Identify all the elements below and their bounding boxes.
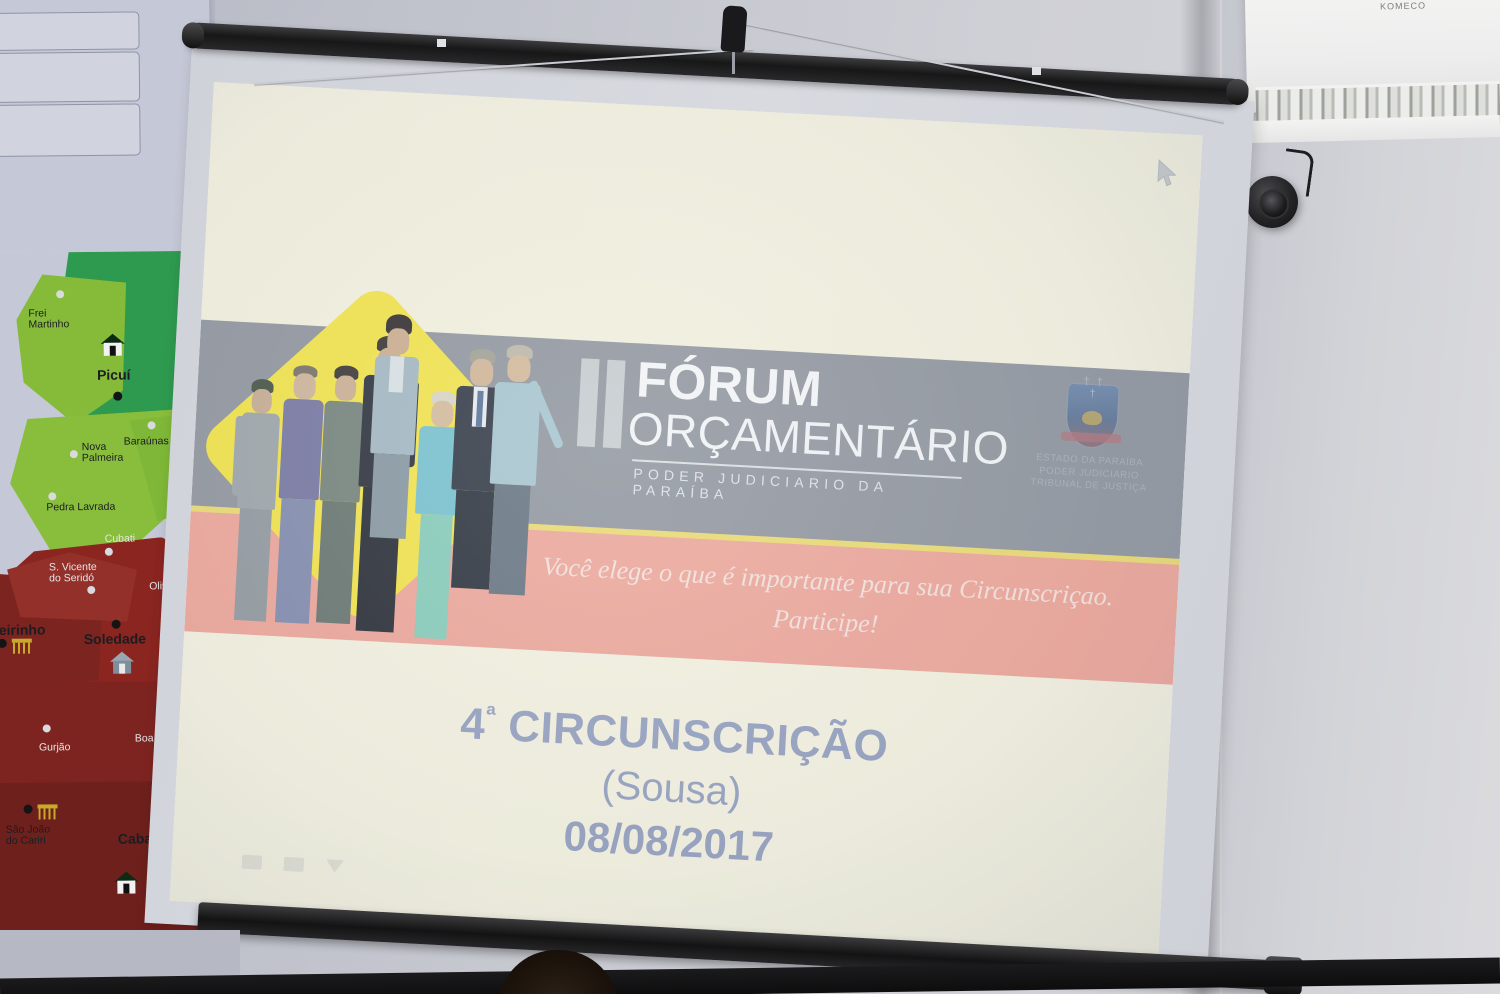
logo-mark-bar-2 [603, 360, 626, 449]
air-conditioner-brand-label: KOMECO [1380, 1, 1426, 12]
room-scene: KOMECO 9 - 12 alizadas ativas 41 11 [0, 0, 1500, 994]
map-label-nova-palmeira: NovaPalmeira [82, 442, 124, 464]
coat-of-arms-icon: † † † [1065, 383, 1120, 450]
circunscricao-ordinal: 4 [459, 699, 487, 749]
map-label-baraunas: Baraúnas [124, 436, 169, 447]
map-label-soledade: Soledade [84, 633, 146, 645]
map-dot-picui [113, 392, 122, 401]
people-illustration [208, 283, 557, 660]
poster-box-1 [0, 11, 140, 51]
poster-box-2 [0, 51, 140, 103]
house-icon-cabaceiras [114, 871, 138, 893]
map-label-cubati: Cubati [105, 534, 135, 545]
house-icon-soledade [110, 652, 134, 674]
screen-hanger-hook [720, 5, 747, 53]
map-dot-s-vicente-serido [87, 586, 95, 594]
wall-right-panel [1222, 0, 1500, 994]
wire-clip-left [437, 39, 446, 47]
mouse-cursor-icon [1156, 159, 1180, 190]
circunscricao-ordinal-suffix: ª [485, 700, 497, 731]
crest-ribbon-icon [1061, 431, 1121, 443]
tribunal-emblem: † † † ESTADO DA PARAÍBA PODER JUDICIÁRIO… [1011, 380, 1168, 528]
forum-logo: FÓRUM ORÇAMENTÁRIO PODER JUDICIARIO DA P… [574, 352, 982, 523]
map-dot-frei-martinho [56, 290, 64, 298]
poster-box-3 [0, 103, 141, 157]
map-dot-sao-joao-cariri [24, 805, 33, 814]
roller-cap-left [181, 22, 204, 49]
toolbar-play-icon[interactable] [325, 859, 344, 873]
map-dot-cubati [105, 548, 113, 556]
house-icon-picui [101, 334, 125, 356]
toolbar-icon-2[interactable] [283, 857, 304, 872]
crest-figure-icon [1082, 410, 1103, 425]
map-dot-nova-palmeira [70, 450, 78, 458]
map-label-s-vicente-serido: S. Vicentedo Seridó [49, 562, 97, 584]
map-label-picui: Picuí [97, 370, 131, 381]
map-dot-gurjao [43, 724, 51, 732]
map-label-frei-martinho: FreiMartinho [28, 308, 69, 330]
toolbar-icon-1[interactable] [241, 855, 262, 870]
map-dot-baraunas [148, 421, 156, 429]
map-dot-soledade [112, 620, 121, 629]
map-label-sao-joao-cariri: São Joãodo Cariri [6, 824, 51, 846]
courthouse-icon-juazeirinho [12, 639, 32, 654]
courthouse-icon-sao-joao-cariri [38, 804, 58, 819]
map-label-juazeirinho: Juazeirinho [0, 624, 46, 636]
map-dot-pedra-lavrada [48, 492, 56, 500]
camera-lens-icon [1259, 189, 1289, 219]
crest-crosses-icon: † † † [1081, 375, 1107, 400]
projected-slide[interactable]: FÓRUM ORÇAMENTÁRIO PODER JUDICIARIO DA P… [170, 82, 1203, 954]
poster-header-area: 9 - 12 alizadas ativas 41 11 [0, 0, 212, 253]
map-label-pedra-lavrada: Pedra Lavrada [46, 502, 115, 514]
logo-mark-bar-1 [577, 358, 600, 447]
wire-clip-right [1032, 67, 1041, 75]
map-label-gurjao: Gurjão [39, 742, 71, 753]
